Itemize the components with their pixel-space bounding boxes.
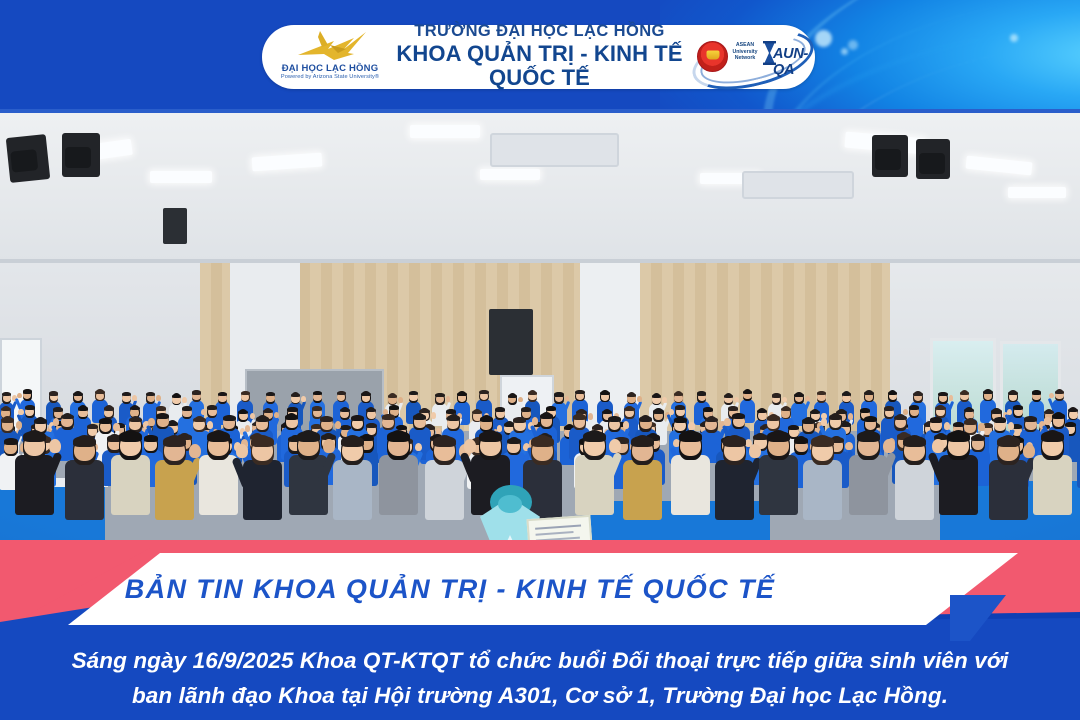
aun-qa-badge: ASEAN University Network AUN-QA: [693, 28, 809, 86]
lac-hong-bird-icon: [294, 29, 368, 63]
lac-hong-logo-name: ĐẠI HỌC LẠC HỒNG: [272, 63, 388, 74]
newsletter-title: BẢN TIN KHOA QUẢN TRỊ - KINH TẾ QUỐC TẾ: [100, 553, 800, 625]
poster-header: ĐẠI HỌC LẠC HỒNG Powered by Arizona Stat…: [0, 0, 1080, 113]
header-bokeh-dot: [848, 40, 858, 50]
header-bokeh-dot: [841, 48, 848, 55]
lac-hong-logo: ĐẠI HỌC LẠC HỒNG Powered by Arizona Stat…: [272, 27, 388, 87]
header-title-block: TRƯỜNG ĐẠI HỌC LẠC HỒNG KHOA QUẢN TRỊ - …: [388, 23, 693, 91]
aun-qa-label: AUN-QA: [773, 46, 809, 78]
asean-university-network-seal-icon: [697, 41, 728, 72]
caption-line-2: ban lãnh đạo Khoa tại Hội trường A301, C…: [0, 679, 1080, 714]
university-name: TRƯỜNG ĐẠI HỌC LẠC HỒNG: [388, 23, 691, 40]
header-bokeh-dot: [1010, 34, 1018, 42]
faculty-name: KHOA QUẢN TRỊ - KINH TẾ QUỐC TẾ: [388, 42, 691, 91]
event-photo: [0, 113, 1080, 560]
header-identity-pill: ĐẠI HỌC LẠC HỒNG Powered by Arizona Stat…: [262, 25, 815, 89]
newsletter-poster: ĐẠI HỌC LẠC HỒNG Powered by Arizona Stat…: [0, 0, 1080, 720]
event-caption: Sáng ngày 16/9/2025 Khoa QT-KTQT tổ chức…: [0, 644, 1080, 714]
header-bokeh-dot: [815, 30, 832, 47]
photo-vignette: [0, 113, 1080, 560]
caption-line-1: Sáng ngày 16/9/2025 Khoa QT-KTQT tổ chức…: [0, 644, 1080, 679]
poster-footer: BẢN TIN KHOA QUẢN TRỊ - KINH TẾ QUỐC TẾ …: [0, 540, 1080, 720]
aun-seal-text: ASEAN University Network: [725, 42, 765, 62]
lac-hong-logo-tagline: Powered by Arizona State University®: [272, 74, 388, 80]
